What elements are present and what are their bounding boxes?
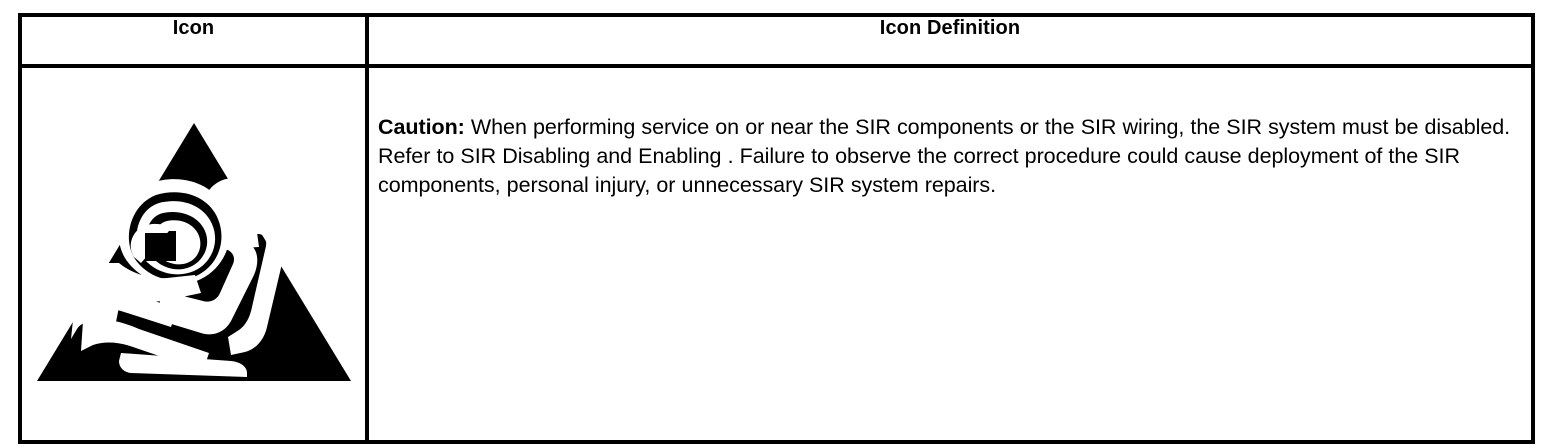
column-header-definition: Icon Definition: [367, 15, 1533, 66]
column-header-icon-label: Icon: [22, 17, 365, 39]
definition-cell: Caution: When performing service on or n…: [367, 66, 1533, 442]
table-header-row: Icon Icon Definition: [20, 15, 1533, 66]
column-header-definition-label: Icon Definition: [369, 17, 1531, 39]
icon-cell: [20, 66, 367, 442]
column-header-icon: Icon: [20, 15, 367, 66]
caution-paragraph: Caution: When performing service on or n…: [378, 113, 1513, 200]
document-page: Icon Icon Definition: [0, 0, 1568, 448]
caution-text: When performing service on or near the S…: [378, 115, 1510, 197]
sir-airbag-caution-icon: [35, 121, 353, 383]
warning-triangle-icon: [35, 121, 353, 383]
caution-label: Caution:: [378, 115, 465, 139]
table-row: Caution: When performing service on or n…: [20, 66, 1533, 442]
definition-body: Caution: When performing service on or n…: [369, 68, 1531, 200]
icon-definition-table: Icon Icon Definition: [18, 13, 1535, 444]
steering-wheel-hub-square: [145, 233, 173, 259]
